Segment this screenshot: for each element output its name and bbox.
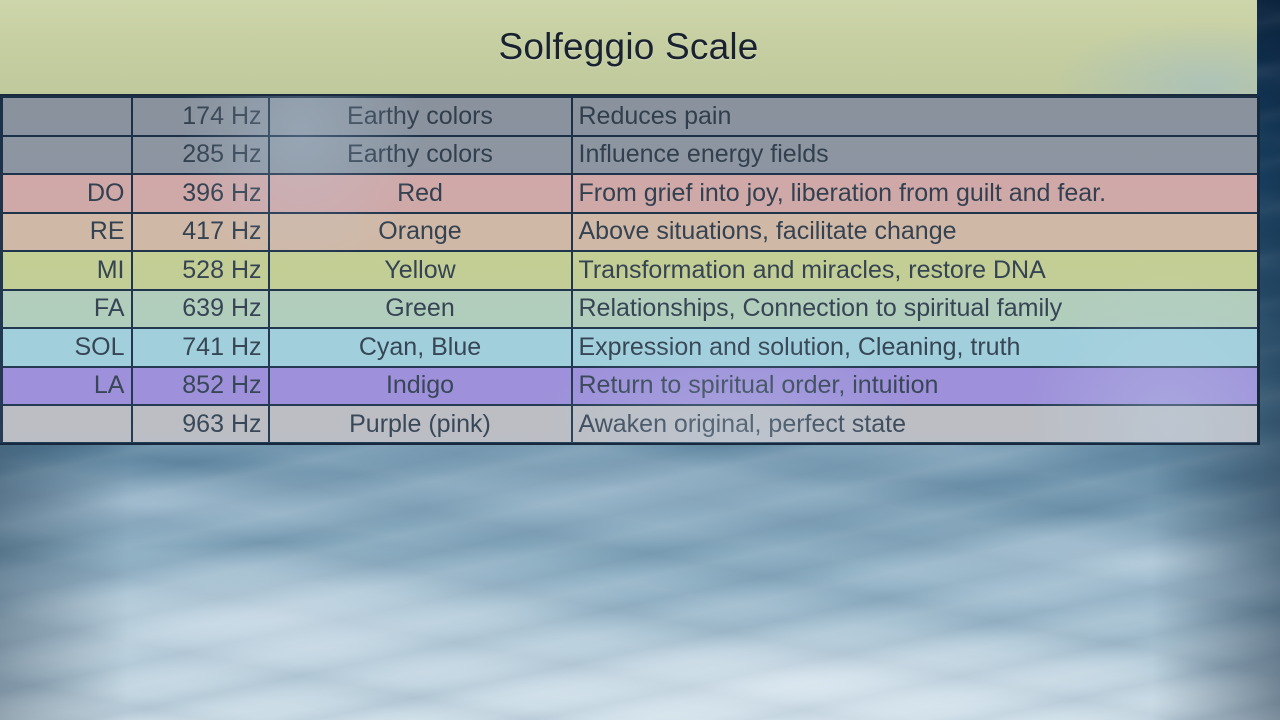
cell-frequency: 741 Hz: [132, 328, 269, 367]
cell-frequency: 396 Hz: [132, 174, 269, 213]
cell-color: Orange: [269, 213, 572, 252]
cell-frequency: 639 Hz: [132, 290, 269, 329]
cell-note: [2, 97, 132, 136]
solfeggio-scale-table: 174 HzEarthy colorsReduces pain285 HzEar…: [0, 96, 1260, 445]
cell-note: RE: [2, 213, 132, 252]
table-row: LA852 HzIndigoReturn to spiritual order,…: [2, 367, 1259, 406]
title-band: Solfeggio Scale: [0, 0, 1257, 96]
cell-effect: Above situations, facilitate change: [572, 213, 1259, 252]
cell-color: Yellow: [269, 251, 572, 290]
cell-note: DO: [2, 174, 132, 213]
table-row: 963 HzPurple (pink)Awaken original, perf…: [2, 405, 1259, 444]
cell-frequency: 417 Hz: [132, 213, 269, 252]
cell-color: Green: [269, 290, 572, 329]
cell-color: Earthy colors: [269, 136, 572, 175]
cell-effect: Awaken original, perfect state: [572, 405, 1259, 444]
table-row: MI528 HzYellowTransformation and miracle…: [2, 251, 1259, 290]
cell-frequency: 963 Hz: [132, 405, 269, 444]
table-row: 174 HzEarthy colorsReduces pain: [2, 97, 1259, 136]
cell-frequency: 528 Hz: [132, 251, 269, 290]
cell-effect: Expression and solution, Cleaning, truth: [572, 328, 1259, 367]
cell-color: Earthy colors: [269, 97, 572, 136]
cell-frequency: 852 Hz: [132, 367, 269, 406]
cell-effect: Return to spiritual order, intuition: [572, 367, 1259, 406]
cell-color: Cyan, Blue: [269, 328, 572, 367]
cell-note: [2, 405, 132, 444]
cell-effect: Transformation and miracles, restore DNA: [572, 251, 1259, 290]
cell-note: MI: [2, 251, 132, 290]
cell-color: Indigo: [269, 367, 572, 406]
cell-effect: Influence energy fields: [572, 136, 1259, 175]
cell-color: Purple (pink): [269, 405, 572, 444]
table-row: RE417 HzOrangeAbove situations, facilita…: [2, 213, 1259, 252]
page-title: Solfeggio Scale: [498, 26, 758, 68]
table-row: 285 HzEarthy colorsInfluence energy fiel…: [2, 136, 1259, 175]
cell-frequency: 285 Hz: [132, 136, 269, 175]
cell-frequency: 174 Hz: [132, 97, 269, 136]
cell-effect: Relationships, Connection to spiritual f…: [572, 290, 1259, 329]
table-row: SOL741 HzCyan, BlueExpression and soluti…: [2, 328, 1259, 367]
cell-note: FA: [2, 290, 132, 329]
cell-effect: Reduces pain: [572, 97, 1259, 136]
table-row: DO396 HzRedFrom grief into joy, liberati…: [2, 174, 1259, 213]
table-body: 174 HzEarthy colorsReduces pain285 HzEar…: [2, 97, 1259, 444]
table-row: FA639 HzGreenRelationships, Connection t…: [2, 290, 1259, 329]
cell-effect: From grief into joy, liberation from gui…: [572, 174, 1259, 213]
cell-note: SOL: [2, 328, 132, 367]
cell-note: LA: [2, 367, 132, 406]
slide-panel: Solfeggio Scale 174 HzEarthy colorsReduc…: [0, 0, 1257, 445]
cell-note: [2, 136, 132, 175]
cell-color: Red: [269, 174, 572, 213]
